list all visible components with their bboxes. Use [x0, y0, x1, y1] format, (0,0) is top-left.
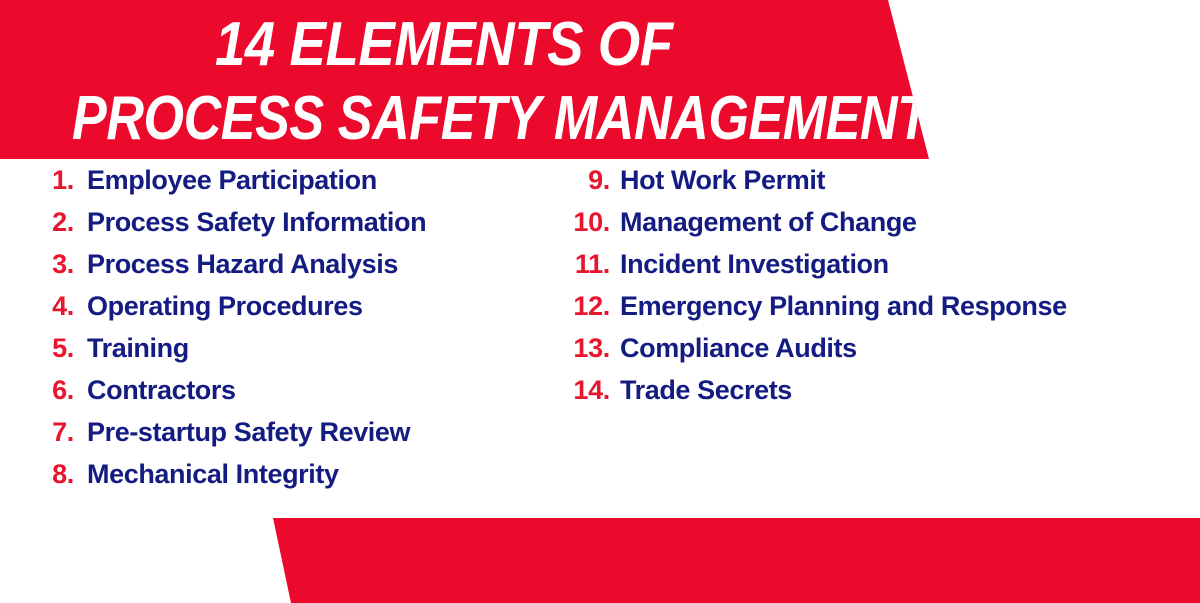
list-item-label: Mechanical Integrity: [74, 453, 339, 495]
list-item-label: Contractors: [74, 369, 236, 411]
list-item-label: Operating Procedures: [74, 285, 363, 327]
list-item-label: Trade Secrets: [610, 369, 792, 411]
elements-list-region: 1. Employee Participation 2. Process Saf…: [0, 159, 1200, 519]
list-item[interactable]: 1. Employee Participation: [30, 159, 550, 201]
list-item-number: 13.: [548, 327, 610, 369]
list-item-number: 14.: [548, 369, 610, 411]
list-item[interactable]: 14. Trade Secrets: [548, 369, 1188, 411]
list-item-number: 7.: [30, 411, 74, 453]
list-item-number: 6.: [30, 369, 74, 411]
list-item[interactable]: 5. Training: [30, 327, 550, 369]
list-item-label: Hot Work Permit: [610, 159, 825, 201]
list-item-label: Pre-startup Safety Review: [74, 411, 410, 453]
title-line-2: PROCESS SAFETY MANAGEMENT: [72, 76, 828, 150]
list-item-label: Employee Participation: [74, 159, 377, 201]
list-item-label: Process Safety Information: [74, 201, 426, 243]
page-title: 14 ELEMENTS OF PROCESS SAFETY MANAGEMENT: [0, 0, 900, 159]
list-item-label: Training: [74, 327, 189, 369]
list-item-number: 12.: [548, 285, 610, 327]
list-item-label: Compliance Audits: [610, 327, 857, 369]
list-item[interactable]: 9. Hot Work Permit: [548, 159, 1188, 201]
list-item-number: 8.: [30, 453, 74, 495]
list-item-label: Emergency Planning and Response: [610, 285, 1067, 327]
list-item-number: 5.: [30, 327, 74, 369]
list-item[interactable]: 10. Management of Change: [548, 201, 1188, 243]
list-item-number: 2.: [30, 201, 74, 243]
list-column-right: 9. Hot Work Permit 10. Management of Cha…: [548, 159, 1188, 411]
list-item[interactable]: 8. Mechanical Integrity: [30, 453, 550, 495]
list-item-number: 11.: [548, 243, 610, 285]
list-item-number: 1.: [30, 159, 74, 201]
list-item-label: Management of Change: [610, 201, 917, 243]
list-item[interactable]: 12. Emergency Planning and Response: [548, 285, 1188, 327]
list-item-label: Incident Investigation: [610, 243, 889, 285]
list-item-number: 3.: [30, 243, 74, 285]
header-banner: 14 ELEMENTS OF PROCESS SAFETY MANAGEMENT: [0, 0, 930, 159]
poster-canvas: 14 ELEMENTS OF PROCESS SAFETY MANAGEMENT…: [0, 0, 1200, 603]
list-column-left: 1. Employee Participation 2. Process Saf…: [30, 159, 550, 495]
list-item-number: 9.: [548, 159, 610, 201]
list-item[interactable]: 3. Process Hazard Analysis: [30, 243, 550, 285]
elements-list-9-to-14: 9. Hot Work Permit 10. Management of Cha…: [548, 159, 1188, 411]
list-item[interactable]: 11. Incident Investigation: [548, 243, 1188, 285]
list-item[interactable]: 13. Compliance Audits: [548, 327, 1188, 369]
list-item[interactable]: 2. Process Safety Information: [30, 201, 550, 243]
list-item-number: 4.: [30, 285, 74, 327]
footer-bar: [0, 518, 1200, 603]
list-item-label: Process Hazard Analysis: [74, 243, 398, 285]
list-item[interactable]: 4. Operating Procedures: [30, 285, 550, 327]
list-item[interactable]: 6. Contractors: [30, 369, 550, 411]
title-line-1: 14 ELEMENTS OF: [54, 0, 846, 76]
elements-list-1-to-8: 1. Employee Participation 2. Process Saf…: [30, 159, 550, 495]
list-item-number: 10.: [548, 201, 610, 243]
list-item[interactable]: 7. Pre-startup Safety Review: [30, 411, 550, 453]
